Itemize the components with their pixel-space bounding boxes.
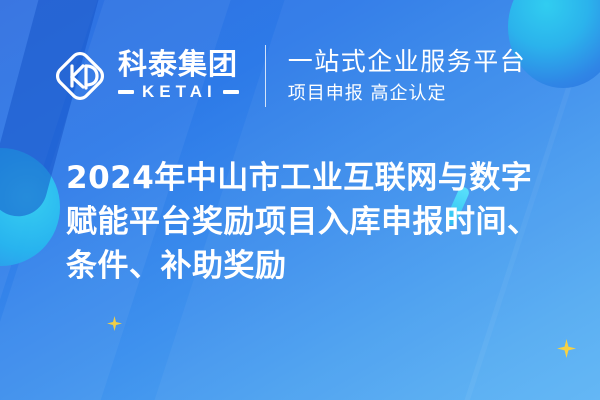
- dash-right-icon: [223, 90, 239, 94]
- tagline-sub: 项目申报 高企认定: [288, 82, 527, 105]
- brand-name-en: KETAI: [142, 82, 217, 102]
- ketai-diamond-kd-logo-icon: [52, 48, 108, 104]
- banner-headline: 2024年中山市工业互联网与数字赋能平台奖励项目入库申报时间、条件、补助奖励: [66, 156, 556, 288]
- header-tagline: 一站式企业服务平台 项目申报 高企认定: [288, 47, 527, 105]
- sparkle-star-icon: [107, 316, 122, 331]
- sparkle-star-icon: [557, 339, 576, 358]
- banner-header: 科泰集团 KETAI 一站式企业服务平台 项目申报 高企认定: [52, 40, 526, 112]
- brand-name-cn: 科泰集团: [118, 50, 239, 80]
- header-divider: [265, 45, 266, 107]
- brand-name-en-row: KETAI: [118, 82, 239, 102]
- tagline-main: 一站式企业服务平台: [288, 47, 527, 78]
- logo-wordmark: 科泰集团 KETAI: [118, 50, 239, 103]
- promo-banner: 科泰集团 KETAI 一站式企业服务平台 项目申报 高企认定 2024年中山市工…: [0, 0, 600, 400]
- company-logo: 科泰集团 KETAI: [52, 48, 239, 104]
- dash-left-icon: [118, 90, 134, 94]
